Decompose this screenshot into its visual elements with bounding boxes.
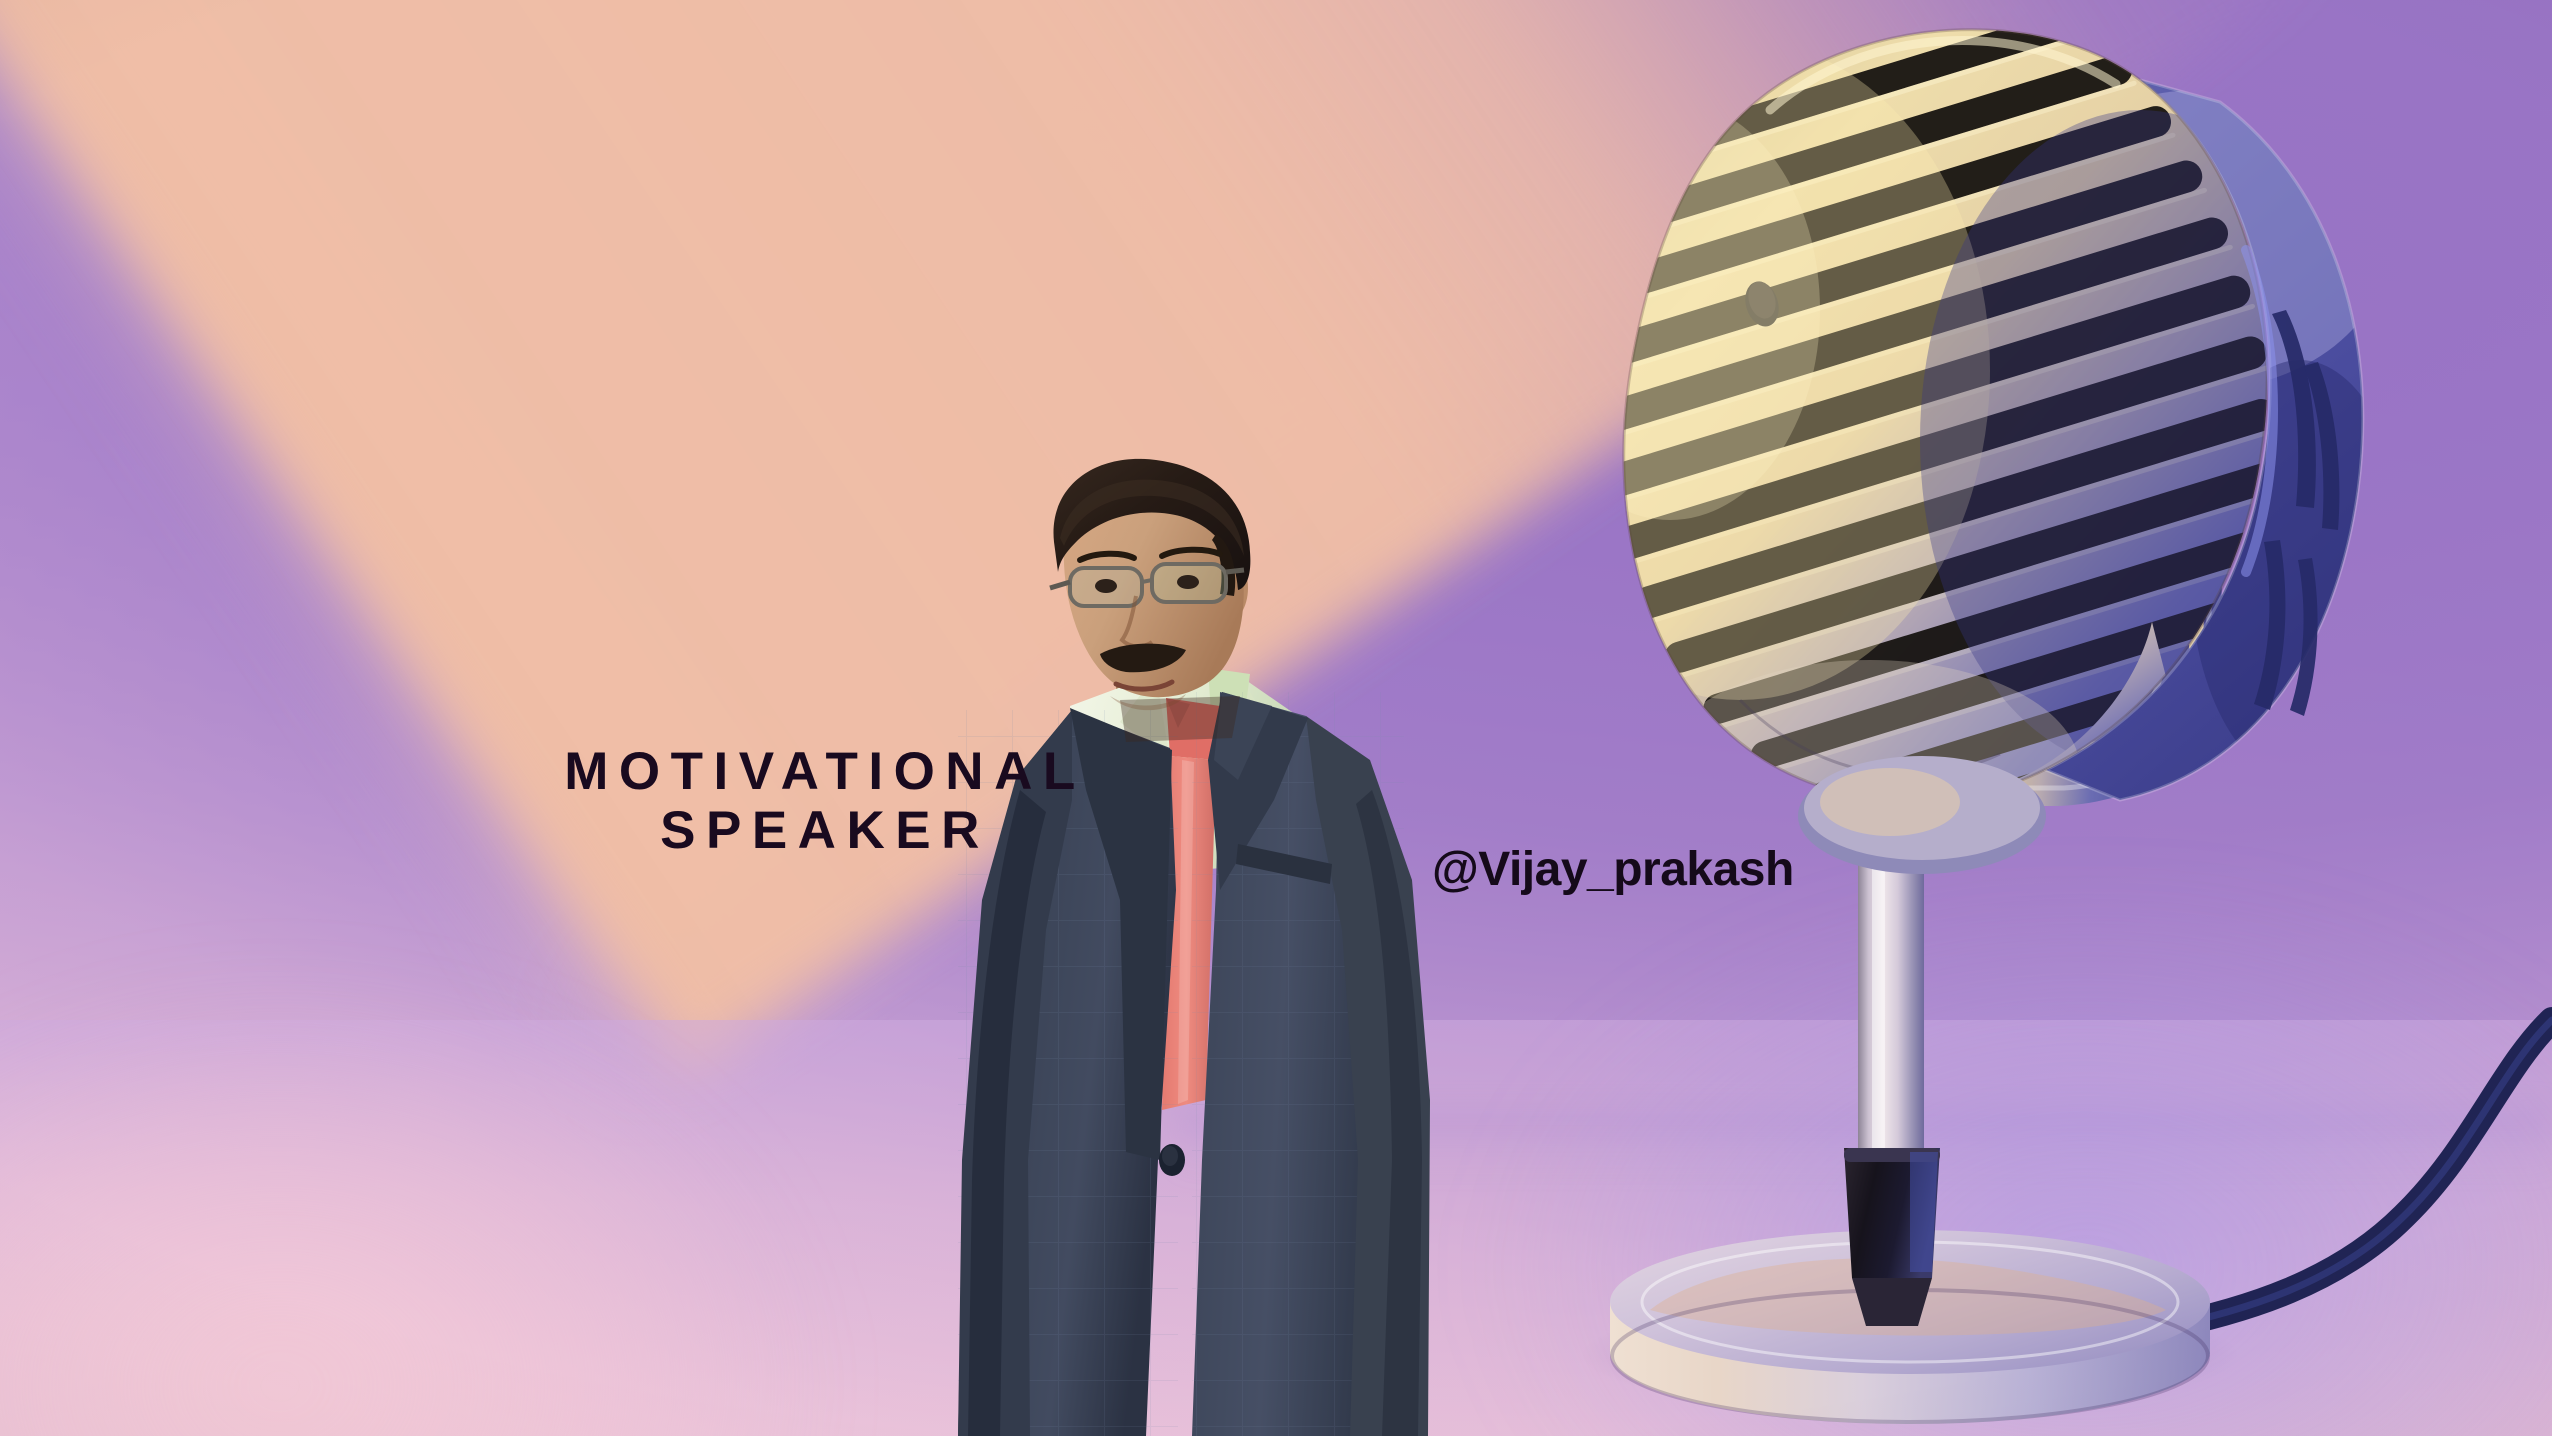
- headline-block: MOTIVATIONAL SPEAKER: [430, 742, 1220, 861]
- social-handle: @Vijay_prakash: [1432, 842, 1794, 897]
- poster-canvas: MOTIVATIONAL SPEAKER @Vijay_prakash: [0, 0, 2552, 1436]
- headline-line-1: MOTIVATIONAL: [430, 742, 1220, 801]
- headline-line-2: SPEAKER: [430, 801, 1220, 860]
- vignette-overlay: [0, 0, 2552, 1436]
